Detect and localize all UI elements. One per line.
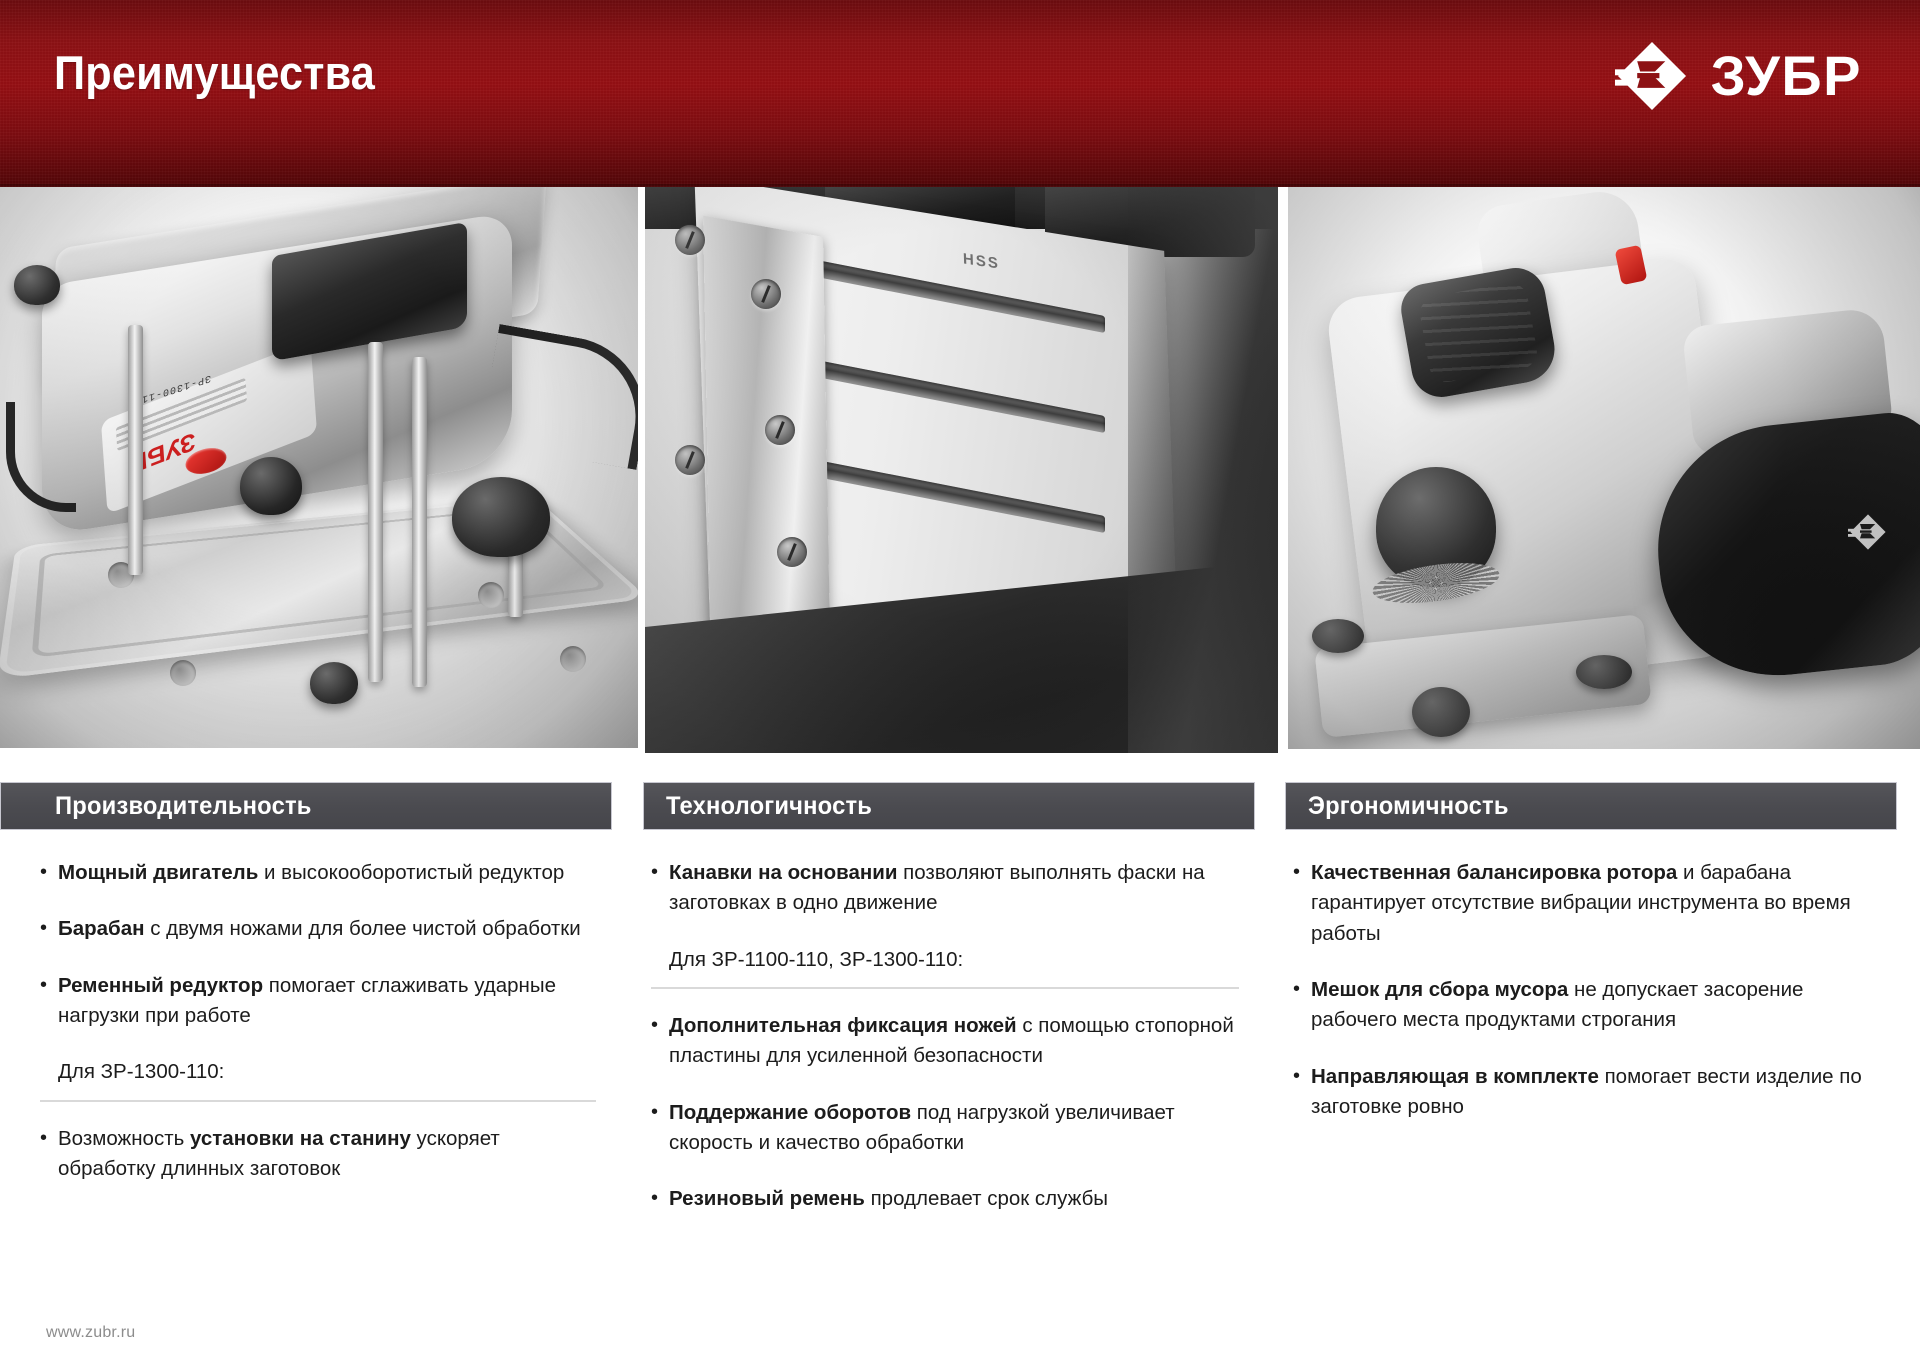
list-item: • Барабан с двумя ножами для более чисто… [40, 914, 602, 944]
brand-lockup: ЗУБР [1615, 39, 1862, 113]
bullet-icon: • [40, 971, 58, 1001]
base-screw [675, 225, 705, 255]
list-item: • Канавки на основании позволяют выполня… [651, 858, 1245, 919]
zubr-rhombus-logo-icon [1615, 39, 1689, 113]
dark-right-band [1128, 187, 1278, 753]
blade-screw [777, 537, 807, 567]
photo-planer-on-stand: ЗУБР ЗР-1300-110 [0, 187, 638, 748]
bottom-knob [1412, 687, 1470, 737]
column-title: Технологичность [666, 792, 872, 821]
list-item-bold: Направляющая в комплекте [1311, 1065, 1599, 1088]
clamp-knob [310, 662, 358, 704]
list-item-text: Качественная балансировка ротора и бараб… [1311, 858, 1887, 949]
photo-1-illustration: ЗУБР ЗР-1300-110 [0, 187, 638, 748]
section-divider [40, 1100, 596, 1102]
bullet-icon: • [651, 1098, 669, 1128]
list-item-bold: Барабан [58, 917, 145, 940]
base-hole [170, 660, 196, 686]
list-item-text: Дополнительная фиксация ножей с помощью … [669, 1011, 1245, 1072]
power-cord [479, 324, 638, 470]
photo-planer-with-dust-bag [1288, 187, 1920, 749]
list-item-bold: Резиновый ремень [669, 1187, 865, 1210]
list-item-bold: Качественная балансировка ротора [1311, 861, 1677, 884]
list-item: • Поддержание оборотов под нагрузкой уве… [651, 1098, 1245, 1159]
stand-post [368, 342, 383, 682]
blade-screw [751, 279, 781, 309]
list-item: • Мешок для сбора мусора не допускает за… [1293, 975, 1887, 1036]
list-item-text: Резиновый ремень продлевает срок службы [669, 1184, 1245, 1214]
dust-port-knob [452, 477, 550, 557]
column-body: • Качественная балансировка ротора и бар… [1285, 830, 1897, 1122]
list-item: • Дополнительная фиксация ножей с помощь… [651, 1011, 1245, 1072]
brand-name: ЗУБР [1711, 48, 1862, 104]
list-item-text: Поддержание оборотов под нагрузкой увели… [669, 1098, 1245, 1159]
list-item: • Возможность установки на станину ускор… [40, 1124, 602, 1185]
list-item-bold: установки на станину [190, 1127, 411, 1150]
list-item: • Резиновый ремень продлевает срок служб… [651, 1184, 1245, 1214]
photo-strip: ЗУБР ЗР-1300-110 [0, 187, 1920, 757]
bullet-icon: • [40, 1124, 58, 1154]
section-divider [651, 987, 1239, 989]
list-item-text: Мощный двигатель и высокооборотистый ред… [58, 858, 602, 888]
base-hole [560, 646, 586, 672]
zubr-rhombus-logo-icon [1848, 512, 1888, 552]
column-body: • Канавки на основании позволяют выполня… [643, 830, 1255, 1215]
list-item-bold: Дополнительная фиксация ножей [669, 1014, 1017, 1037]
stand-post [412, 357, 427, 687]
bullet-icon: • [40, 914, 58, 944]
bullet-icon: • [1293, 975, 1311, 1005]
model-note: Для ЗР-1300-110: [58, 1057, 602, 1087]
list-item-text: Мешок для сбора мусора не допускает засо… [1311, 975, 1887, 1036]
photo-grooved-base-macro: HSS [645, 187, 1278, 753]
list-item-rest: продлевает срок службы [865, 1187, 1108, 1210]
blade-screw [765, 415, 795, 445]
bullet-icon: • [1293, 1062, 1311, 1092]
column-ergonomics: Эргономичность • Качественная балансиров… [1285, 782, 1897, 1148]
list-item: • Ременный редуктор помогает сглаживать … [40, 971, 602, 1032]
list-item-text: Ременный редуктор помогает сглаживать уд… [58, 971, 602, 1032]
list-item: • Направляющая в комплекте помогает вест… [1293, 1062, 1887, 1123]
power-cord [6, 402, 76, 512]
list-item-bold: Поддержание оборотов [669, 1101, 911, 1124]
bullet-icon: • [40, 858, 58, 888]
list-item-text: Барабан с двумя ножами для более чистой … [58, 914, 602, 944]
list-item-bold: Канавки на основании [669, 861, 897, 884]
advantages-columns: Производительность • Мощный двигатель и … [0, 782, 1920, 1292]
bullet-icon: • [651, 1184, 669, 1214]
slide-root: Преимущества ЗУБР [0, 0, 1920, 1357]
column-performance: Производительность • Мощный двигатель и … [0, 782, 612, 1210]
page-header: Преимущества ЗУБР [0, 0, 1920, 187]
adjust-knob [14, 265, 60, 305]
photo-3-illustration [1288, 187, 1920, 749]
list-item: • Мощный двигатель и высокооборотистый р… [40, 858, 602, 888]
column-header-ergonomics: Эргономичность [1285, 782, 1897, 830]
side-knob [1312, 619, 1364, 653]
list-item-bold: Мощный двигатель [58, 861, 258, 884]
column-technology: Технологичность • Канавки на основании п… [643, 782, 1255, 1241]
list-item-rest: и высокооборотистый редуктор [258, 861, 564, 884]
bullet-icon: • [651, 858, 669, 888]
list-item-bold: Ременный редуктор [58, 974, 263, 997]
list-item-bold: Мешок для сбора мусора [1311, 978, 1568, 1001]
column-title: Производительность [55, 792, 312, 821]
column-title: Эргономичность [1308, 792, 1509, 821]
list-item-text: Канавки на основании позволяют выполнять… [669, 858, 1245, 919]
column-header-technology: Технологичность [643, 782, 1255, 830]
list-item-text: Возможность установки на станину ускоряе… [58, 1124, 602, 1185]
column-header-performance: Производительность [0, 782, 612, 830]
model-note: Для ЗР-1100-110, ЗР-1300-110: [669, 945, 1245, 975]
stand-post [128, 325, 143, 575]
bullet-icon: • [651, 1011, 669, 1041]
base-screw [675, 445, 705, 475]
footer-url[interactable]: www.zubr.ru [46, 1324, 135, 1342]
list-item-pre: Возможность [58, 1127, 190, 1150]
side-knob [1576, 655, 1632, 689]
bullet-icon: • [1293, 858, 1311, 888]
depth-knob [240, 457, 302, 515]
page-title: Преимущества [54, 45, 375, 100]
column-body: • Мощный двигатель и высокооборотистый р… [0, 830, 612, 1184]
list-item: • Качественная балансировка ротора и бар… [1293, 858, 1887, 949]
base-hole [478, 582, 504, 608]
list-item-rest: с двумя ножами для более чистой обработк… [145, 917, 581, 940]
list-item-text: Направляющая в комплекте помогает вести … [1311, 1062, 1887, 1123]
photo-2-illustration: HSS [645, 187, 1278, 753]
